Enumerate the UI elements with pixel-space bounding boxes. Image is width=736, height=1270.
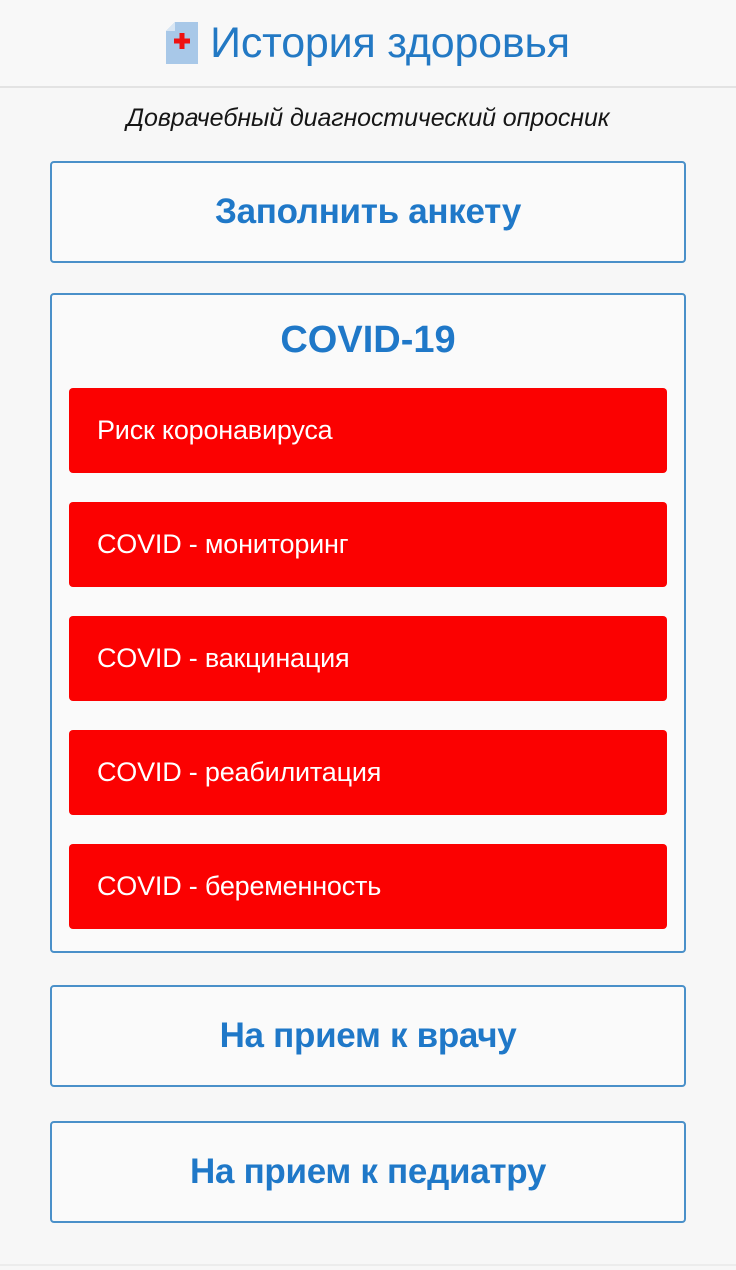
covid-section-card: COVID-19 Риск коронавируса COVID - монит… bbox=[50, 293, 686, 953]
app-header: История здоровья bbox=[0, 0, 736, 88]
covid-pregnancy-label: COVID - беременность bbox=[97, 871, 381, 902]
fill-questionnaire-button[interactable]: Заполнить анкету bbox=[50, 161, 686, 263]
covid-rehabilitation-label: COVID - реабилитация bbox=[97, 757, 381, 788]
covid-risk-button[interactable]: Риск коронавируса bbox=[69, 388, 667, 473]
covid-monitoring-label: COVID - мониторинг bbox=[97, 529, 348, 560]
doctor-appointment-button[interactable]: На прием к врачу bbox=[50, 985, 686, 1087]
page-title: История здоровья bbox=[210, 22, 570, 65]
bottom-divider bbox=[0, 1264, 736, 1266]
medical-document-icon bbox=[166, 22, 198, 64]
header-inner: История здоровья bbox=[166, 22, 570, 65]
covid-risk-label: Риск коронавируса bbox=[97, 415, 332, 446]
covid-rehabilitation-button[interactable]: COVID - реабилитация bbox=[69, 730, 667, 815]
covid-monitoring-button[interactable]: COVID - мониторинг bbox=[69, 502, 667, 587]
covid-section-title: COVID-19 bbox=[69, 313, 667, 388]
covid-vaccination-label: COVID - вакцинация bbox=[97, 643, 349, 674]
app-screen: История здоровья Доврачебный диагностиче… bbox=[0, 0, 736, 1270]
page-subtitle: Доврачебный диагностический опросник bbox=[0, 88, 736, 133]
covid-pregnancy-button[interactable]: COVID - беременность bbox=[69, 844, 667, 929]
pediatrician-appointment-button[interactable]: На прием к педиатру bbox=[50, 1121, 686, 1223]
covid-vaccination-button[interactable]: COVID - вакцинация bbox=[69, 616, 667, 701]
